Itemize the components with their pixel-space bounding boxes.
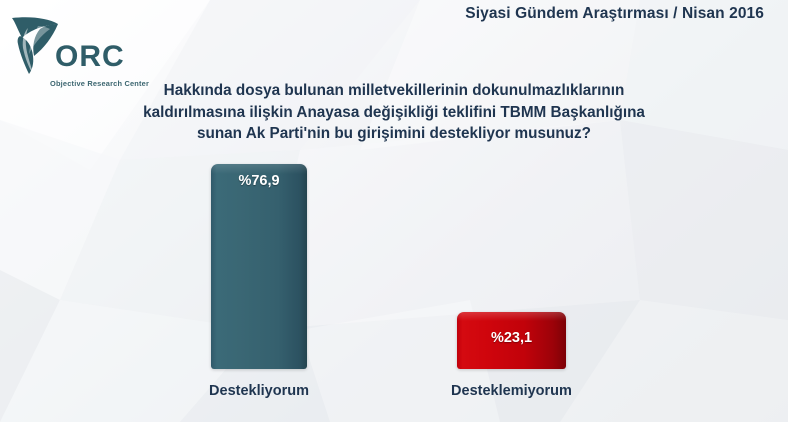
- bar-category-desteklemiyorum: Desteklemiyorum: [417, 383, 606, 399]
- bar-category-destekliyorum: Destekliyorum: [171, 383, 347, 399]
- bar-destekliyorum: %76,9 Destekliyorum: [211, 164, 307, 369]
- bar-body-destekliyorum: [211, 164, 307, 369]
- bar-value-desteklemiyorum: %23,1: [457, 330, 566, 346]
- bar-value-destekliyorum: %76,9: [211, 173, 307, 189]
- slide-canvas: Siyasi Gündem Araştırması / Nisan 2016 O…: [0, 0, 788, 422]
- bar-chart: %76,9 Destekliyorum %23,1 Desteklemiyoru…: [0, 0, 788, 422]
- bar-desteklemiyorum: %23,1 Desteklemiyorum: [457, 312, 566, 369]
